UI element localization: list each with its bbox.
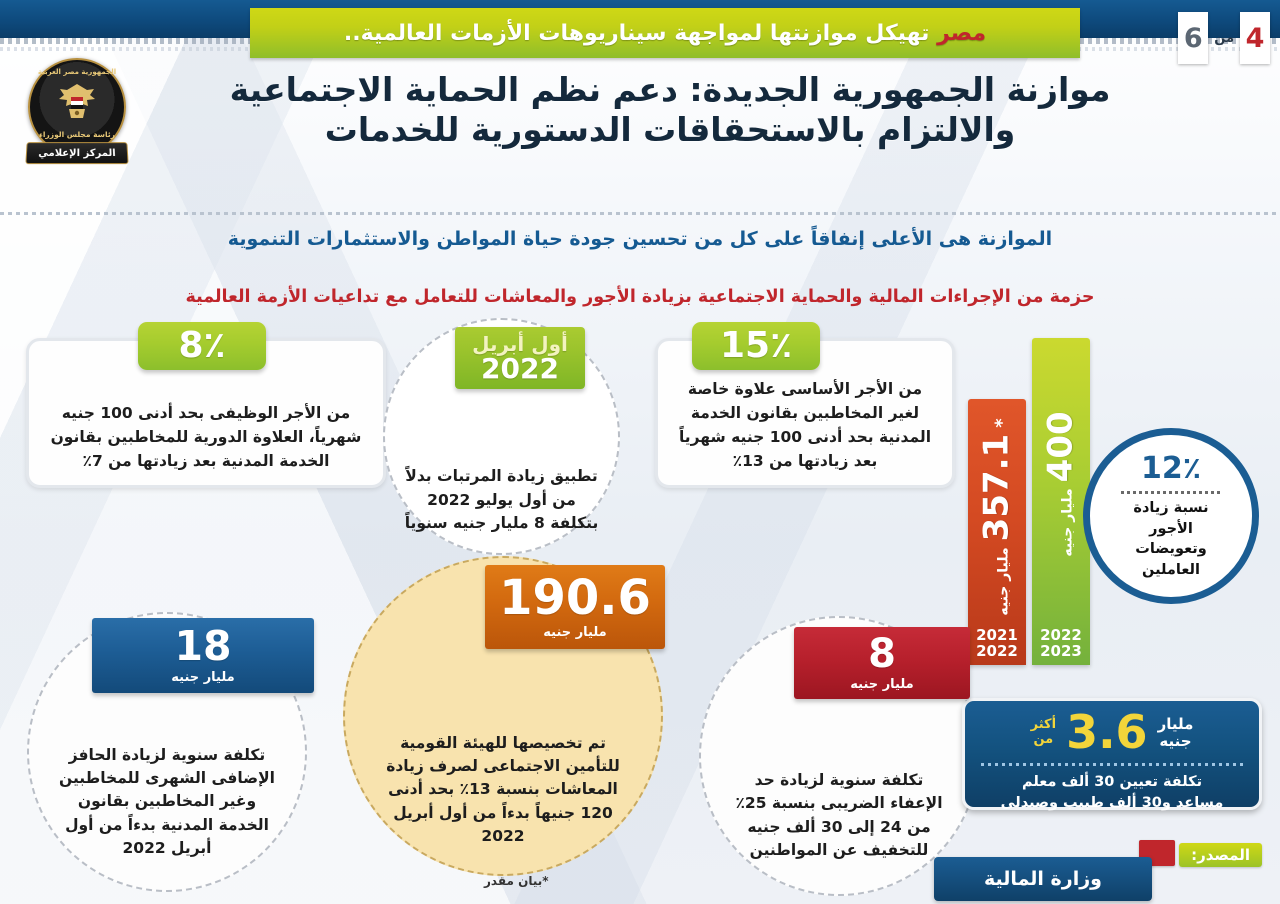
chip-tax-8-unit: مليار جنيه bbox=[850, 677, 913, 692]
page-current: 4 bbox=[1246, 23, 1265, 54]
panel-hiring-36-header: مليار جنيه 3.6 أكثر من bbox=[965, 701, 1259, 759]
chip-15-percent-value: 15٪ bbox=[720, 328, 792, 364]
panel-hiring-36-more-line2: من bbox=[1031, 733, 1056, 748]
infographic-canvas: مصر تهيكل موازنتها لمواجهة سيناريوهات ال… bbox=[0, 0, 1280, 904]
bar-2022-2023-year2: 2023 bbox=[1032, 643, 1090, 659]
chip-pensions-190-unit: مليار جنيه bbox=[543, 625, 606, 640]
circle-wage-growth-body: نسبة زيادة الأجور وتعويضات العاملين bbox=[1090, 498, 1252, 580]
card-wage-8pct-body: من الأجر الوظيفى بحد أدنى 100 جنيه شهريا… bbox=[41, 401, 371, 473]
chip-incentive-18-unit: مليار جنيه bbox=[171, 670, 234, 685]
source-value: وزارة المالية bbox=[984, 868, 1102, 890]
panel-hiring-36-unit-line2: جنيه bbox=[1158, 733, 1194, 750]
panel-hiring-36-more-line1: أكثر bbox=[1031, 718, 1056, 733]
bar-2022-2023: 400 مليار جنيه 2022 2023 bbox=[1032, 338, 1090, 665]
page-current-box: 4 bbox=[1240, 12, 1270, 64]
panel-hiring-36-unit: مليار جنيه bbox=[1158, 716, 1194, 751]
bar-chart-wages: 400 مليار جنيه 2022 2023 * 357.1 مليار ج… bbox=[955, 330, 1090, 665]
panel-hiring-36: مليار جنيه 3.6 أكثر من تكلفة تعيين 30 أل… bbox=[962, 698, 1262, 810]
logo-band: المركز الإعلامي bbox=[25, 142, 128, 164]
card-wage-15pct-body: من الأجر الأساسى علاوة خاصة لغير المخاطب… bbox=[670, 377, 940, 473]
chip-pensions-190-value: 190.6 bbox=[499, 574, 651, 622]
title-separator bbox=[0, 212, 1280, 215]
subtitle-secondary: حزمة من الإجراءات المالية والحماية الاجت… bbox=[0, 287, 1280, 307]
chip-incentive-18-value: 18 bbox=[174, 626, 231, 667]
logo-ring-bottom-text: رئاسة مجلس الوزراء bbox=[22, 130, 132, 139]
source-value-bar: وزارة المالية bbox=[934, 857, 1152, 901]
headline-ribbon-text: مصر تهيكل موازنتها لمواجهة سيناريوهات ال… bbox=[344, 21, 986, 46]
page-counter: 6 من 4 bbox=[1178, 12, 1270, 64]
panel-hiring-36-divider bbox=[981, 763, 1243, 766]
headline-highlight: مصر bbox=[937, 21, 986, 46]
cabinet-media-center-logo: الجمهورية مصر العربية رئاسة مجلس الوزراء… bbox=[22, 56, 132, 174]
chip-april-2022: أول أبريل 2022 bbox=[455, 327, 585, 389]
panel-hiring-36-unit-line1: مليار bbox=[1158, 716, 1194, 733]
bar-2022-2023-unit: مليار جنيه bbox=[1060, 488, 1076, 556]
bar-2022-2023-year1: 2022 bbox=[1032, 627, 1090, 643]
eagle-of-saladin-icon bbox=[54, 82, 100, 124]
source-label: المصدر: bbox=[1179, 843, 1262, 867]
page-of-label: من bbox=[1212, 31, 1236, 46]
circle-april-2022-body: تطبيق زيادة المرتبات بدلاً من أول يوليو … bbox=[385, 465, 618, 553]
circle-wage-growth-value: 12٪ bbox=[1141, 451, 1201, 486]
bar-2021-2022-value: 357.1 bbox=[977, 434, 1017, 542]
page-total-box: 6 bbox=[1178, 12, 1208, 64]
bar-2021-2022: * 357.1 مليار جنيه 2021 2022 bbox=[968, 399, 1026, 665]
bar-2021-2022-footnote-marker: * bbox=[992, 418, 1013, 427]
bar-2022-2023-label: 400 مليار جنيه bbox=[1041, 411, 1081, 556]
bar-2021-2022-unit: مليار جنيه bbox=[996, 547, 1012, 615]
chip-8-percent-value: 8٪ bbox=[178, 328, 225, 364]
headline-ribbon: مصر تهيكل موازنتها لمواجهة سيناريوهات ال… bbox=[250, 8, 1080, 58]
panel-hiring-36-body-line1: تكلفة تعيين 30 ألف معلم bbox=[975, 772, 1249, 794]
circle-pensions-190-body: تم تخصيصها للهيئة القومية للتأمين الاجتم… bbox=[345, 732, 661, 874]
panel-hiring-36-body: تكلفة تعيين 30 ألف معلم مساعد و30 ألف طب… bbox=[965, 772, 1259, 825]
circle-wage-growth-12pct: 12٪ نسبة زيادة الأجور وتعويضات العاملين bbox=[1083, 428, 1259, 604]
chip-incentive-18: 18 مليار جنيه bbox=[92, 618, 314, 693]
bar-2022-2023-value: 400 bbox=[1041, 411, 1081, 482]
bar-2021-2022-year1: 2021 bbox=[968, 627, 1026, 643]
bar-2021-2022-years: 2021 2022 bbox=[968, 627, 1026, 659]
circle-wage-growth-divider bbox=[1121, 491, 1221, 494]
page-total: 6 bbox=[1184, 23, 1203, 54]
page-title-line1: موازنة الجمهورية الجديدة: دعم نظم الحماي… bbox=[120, 70, 1220, 110]
panel-hiring-36-value: 3.6 bbox=[1066, 711, 1148, 755]
logo-ring-top-text: الجمهورية مصر العربية bbox=[22, 68, 132, 76]
page-title: موازنة الجمهورية الجديدة: دعم نظم الحماي… bbox=[120, 70, 1220, 151]
bar-2021-2022-year2: 2022 bbox=[968, 643, 1026, 659]
chip-tax-8: 8 مليار جنيه bbox=[794, 627, 970, 699]
chip-8-percent: 8٪ bbox=[138, 322, 266, 370]
subtitle-primary: الموازنة هى الأعلى إنفاقاً على كل من تحس… bbox=[0, 228, 1280, 250]
chip-april-2022-line2: 2022 bbox=[481, 355, 559, 383]
panel-hiring-36-body-line2: مساعد و30 ألف طبيب وصيدلى bbox=[975, 793, 1249, 815]
chip-15-percent: 15٪ bbox=[692, 322, 820, 370]
chip-pensions-190: 190.6 مليار جنيه bbox=[485, 565, 665, 649]
logo-band-text: المركز الإعلامي bbox=[38, 148, 116, 159]
chart-footnote: *بيان مقدر bbox=[484, 874, 549, 888]
bar-2022-2023-years: 2022 2023 bbox=[1032, 627, 1090, 659]
chip-april-2022-line1: أول أبريل bbox=[472, 334, 568, 354]
circle-incentive-18-body: تكلفة سنوية لزيادة الحافز الإضافى الشهرى… bbox=[29, 744, 305, 890]
chip-tax-8-value: 8 bbox=[868, 634, 896, 674]
page-title-line2: والالتزام بالاستحقاقات الدستورية للخدمات bbox=[120, 110, 1220, 150]
bar-2021-2022-label: * 357.1 مليار جنيه bbox=[977, 418, 1017, 615]
panel-hiring-36-more-label: أكثر من bbox=[1031, 718, 1056, 748]
headline-rest: تهيكل موازنتها لمواجهة سيناريوهات الأزما… bbox=[344, 21, 937, 46]
